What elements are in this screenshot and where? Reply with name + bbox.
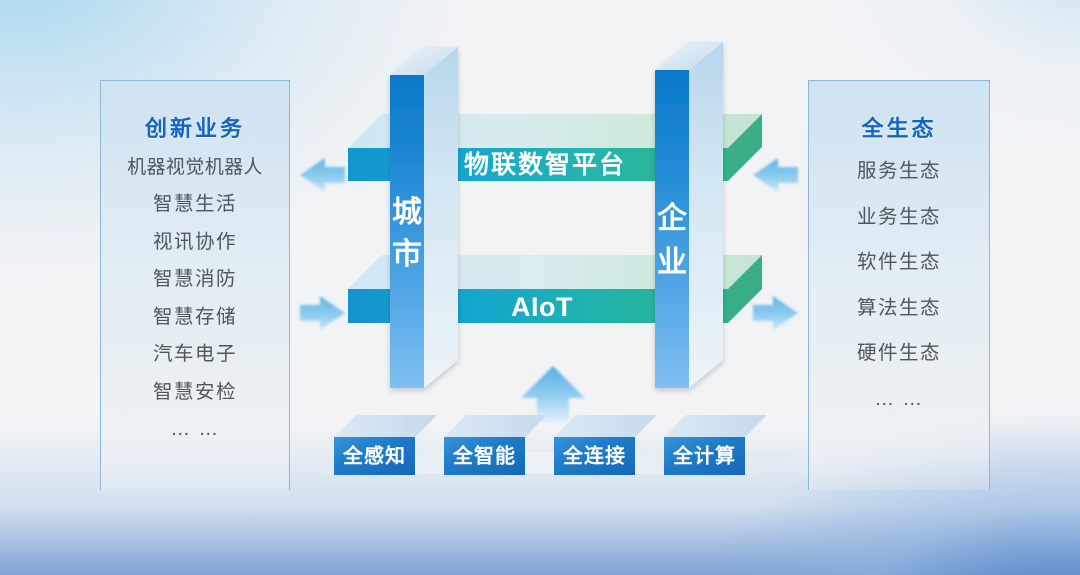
bar-iot-platform-label: 物联数智平台: [464, 150, 626, 179]
arrow-left-in-icon: [300, 296, 345, 330]
base-plate-front: [322, 474, 766, 483]
diagram-canvas: 创新业务 机器视觉机器人 智慧生活 视讯协作 智慧消防 智慧存储 汽车电子 智慧…: [0, 0, 1080, 575]
arrow-up-icon: [521, 366, 585, 422]
capability-block-top: [554, 415, 657, 437]
arrow-right-in-icon: [753, 158, 798, 192]
pillar-city-side: [424, 47, 458, 388]
capability-block-label: 全计算: [672, 444, 736, 468]
capability-block-label: 全智能: [452, 444, 516, 468]
pillar-enterprise-label-char1: 企: [657, 201, 688, 235]
center-structure: 全感知 全智能 全连接 全计算 物联数智平台 AIoT: [0, 0, 1080, 575]
capability-block-label: 全感知: [342, 444, 406, 468]
arrow-left-out-icon: [300, 158, 345, 192]
capability-block-label: 全连接: [562, 444, 626, 468]
pillar-city-front: [390, 75, 424, 388]
pillar-city-label-char2: 市: [392, 237, 422, 271]
capability-block-top: [664, 415, 767, 437]
bar-aiot-label: AIoT: [511, 292, 573, 322]
capability-block-top: [444, 415, 547, 437]
arrow-right-out-icon: [753, 296, 798, 330]
pillar-city-label-char1: 城: [392, 196, 422, 229]
pillar-enterprise-side: [689, 42, 723, 388]
capability-block-top: [334, 415, 437, 437]
pillar-enterprise-label-char2: 业: [657, 246, 687, 279]
